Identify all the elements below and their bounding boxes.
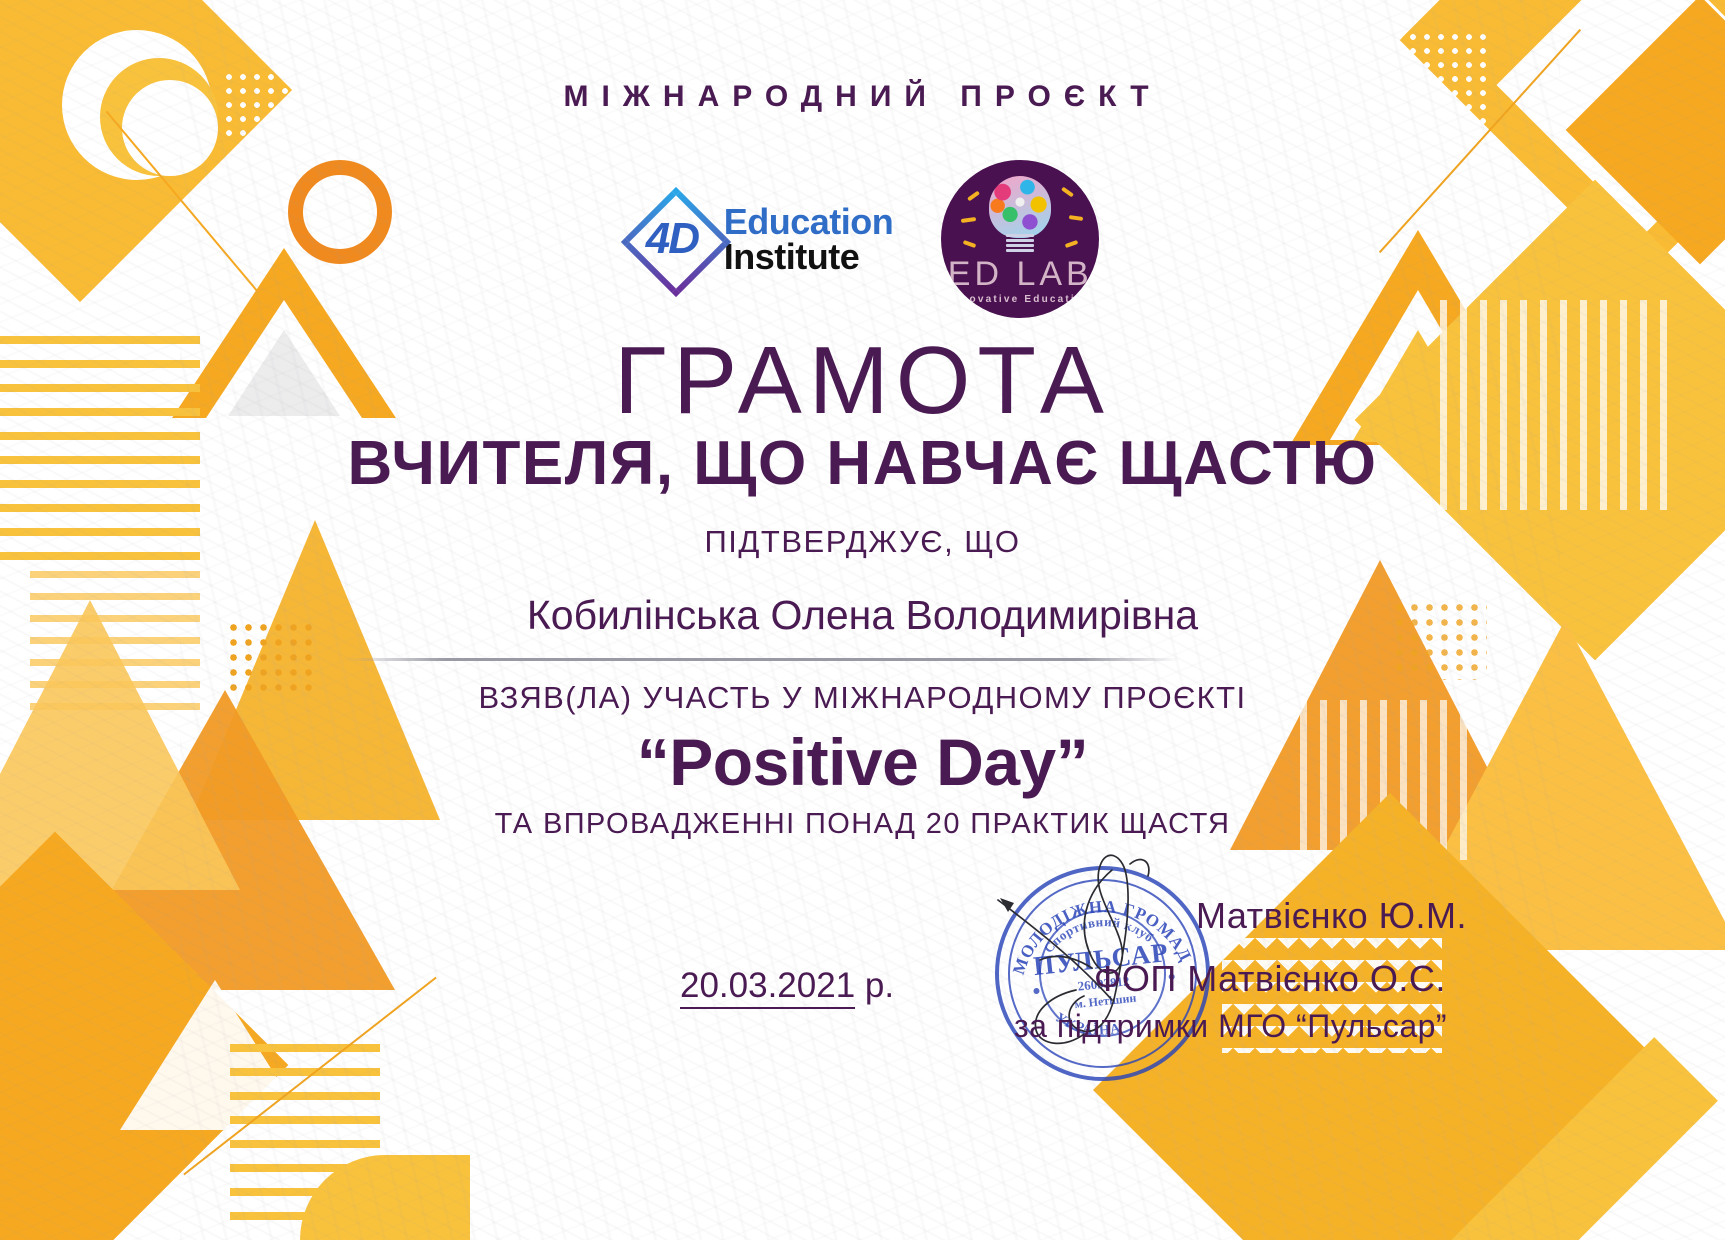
diamond-icon: 4D [626, 192, 720, 286]
ray-icon [961, 217, 976, 223]
issue-date-value: 20.03.2021 [680, 966, 855, 1009]
page-subtitle: ВЧИТЕЛЯ, ЩО НАВЧАЄ ЩАСТЮ [0, 428, 1725, 499]
ray-icon [1069, 215, 1083, 221]
logo-4d-line1: Education [724, 204, 894, 239]
ray-icon [967, 191, 980, 202]
eyebrow-text: МІЖНАРОДНИЙ ПРОЄКТ [0, 80, 1725, 114]
recipient-name: Кобилінська Олена Володимирівна [0, 592, 1725, 639]
logo-ed-lab: ED LAB Innovative Education [941, 160, 1099, 318]
logo-edlab-tagline: Innovative Education [941, 294, 1099, 305]
certificate-page: МІЖНАРОДНИЙ ПРОЄКТ 4D Education Institut… [0, 0, 1725, 1240]
signature-name-line1: Матвієнко Ю.М. [1196, 895, 1467, 937]
page-title: ГРАМОТА [0, 326, 1725, 436]
signature-name-line2: ФОП Матвієнко О.С. [1094, 958, 1446, 1000]
recipient-underline [345, 658, 1180, 661]
certificate-content: МІЖНАРОДНИЙ ПРОЄКТ 4D Education Institut… [0, 0, 1725, 1240]
signature-name-line3: за підтримки МГО “Пульсар” [1014, 1008, 1447, 1045]
logo-4d-education-institute: 4D Education Institute [626, 192, 894, 286]
confirm-line: ПІДТВЕРДЖУЄ, ЩО [0, 524, 1725, 560]
project-name: “Positive Day” [0, 724, 1725, 800]
ray-icon [1061, 187, 1074, 198]
logo-row: 4D Education Institute ED LAB [0, 160, 1725, 318]
participation-line: ВЗЯВ(ЛА) УЧАСТЬ У МІЖНАРОДНОМУ ПРОЄКТІ [0, 680, 1725, 716]
issue-date: 20.03.2021 р. [680, 966, 894, 1006]
logo-4d-wordmark: Education Institute [724, 204, 894, 275]
logo-4d-line2: Institute [724, 239, 894, 274]
practices-line: ТА ВПРОВАДЖЕННІ ПОНАД 20 ПРАКТИК ЩАСТЯ [0, 808, 1725, 841]
logo-edlab-name: ED LAB [941, 255, 1099, 294]
issue-date-suffix: р. [865, 966, 894, 1005]
ray-icon [1065, 240, 1079, 248]
lightbulb-icon [983, 176, 1057, 254]
ray-icon [963, 240, 977, 248]
logo-4d-mark: 4D [646, 214, 720, 264]
